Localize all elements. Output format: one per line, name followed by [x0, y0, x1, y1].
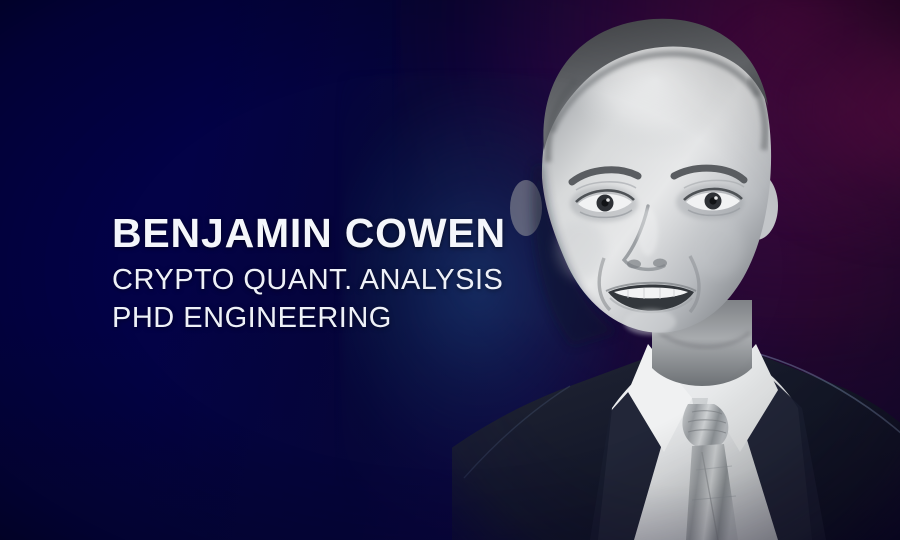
speaker-title-line-2: PHD ENGINEERING	[112, 300, 532, 338]
chin-highlight	[624, 309, 676, 335]
speaker-profile-card: BENJAMIN COWEN CRYPTO QUANT. ANALYSIS PH…	[0, 0, 900, 540]
speaker-name: BENJAMIN COWEN	[112, 212, 532, 255]
speaker-text-block: BENJAMIN COWEN CRYPTO QUANT. ANALYSIS PH…	[112, 212, 532, 338]
speaker-title-line-1: CRYPTO QUANT. ANALYSIS	[112, 262, 532, 300]
